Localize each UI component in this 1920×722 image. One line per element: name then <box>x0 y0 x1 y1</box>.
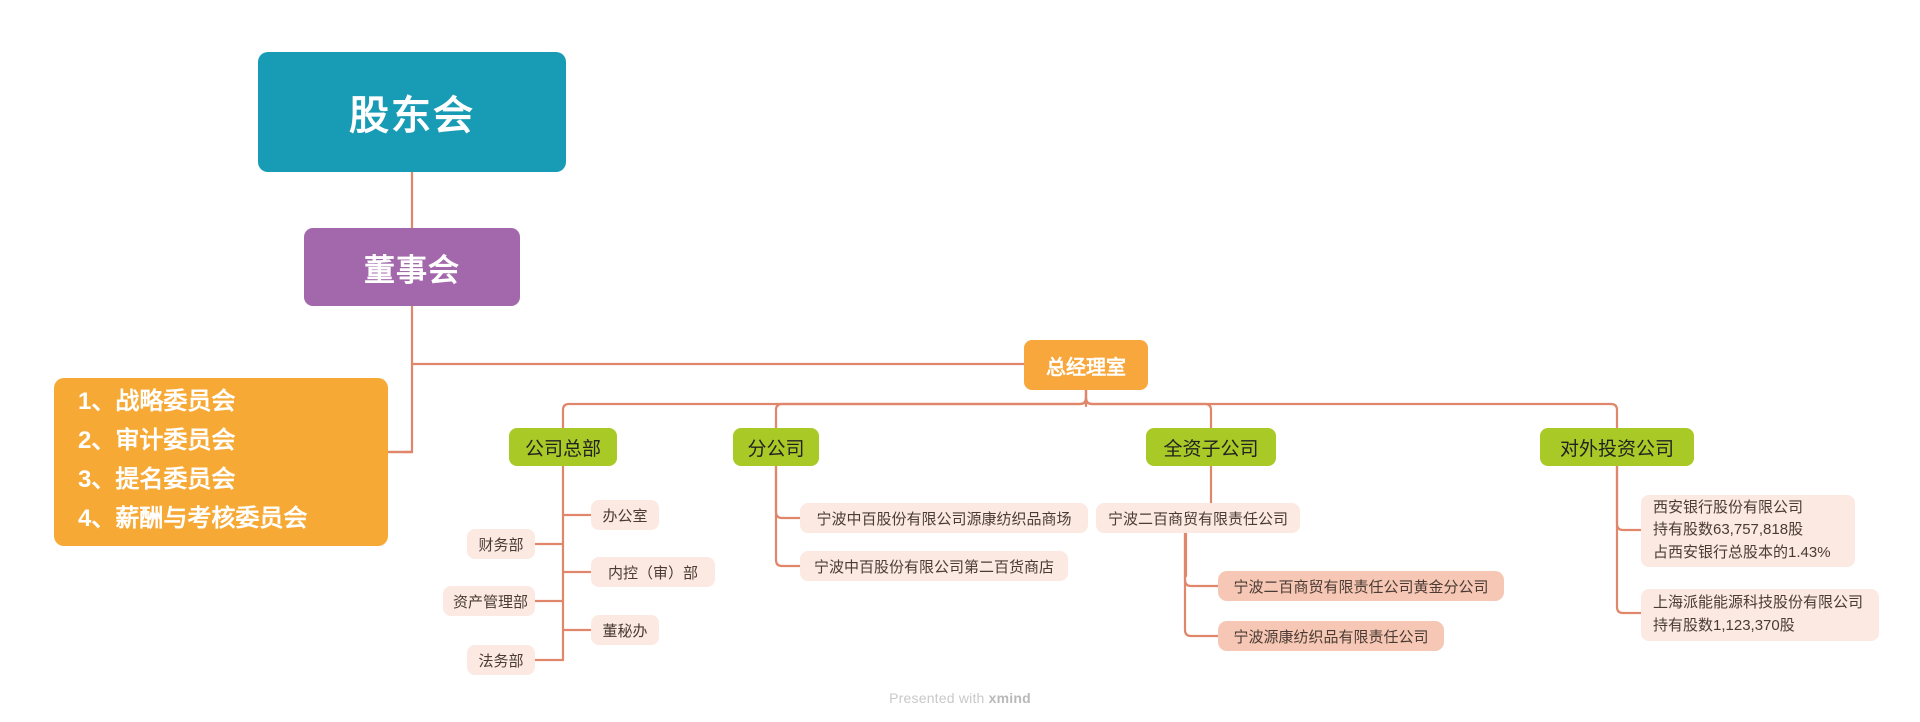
node-shareholders-meeting-label: 股东会 <box>258 83 566 141</box>
footer-attribution: Presented with xmind <box>0 690 1920 706</box>
footer-brand: xmind <box>989 690 1031 706</box>
node-board-of-directors-label: 董事会 <box>304 245 520 290</box>
committee-item: 3、提名委员会 <box>78 461 235 500</box>
investment-line: 持有股数63,757,818股 <box>1653 519 1803 542</box>
node-department-office-label: 办公室 <box>601 505 649 526</box>
investment-line: 上海派能能源科技股份有限公司 <box>1653 592 1863 615</box>
investment-line: 西安银行股份有限公司 <box>1653 497 1803 520</box>
org-chart-canvas: 股东会 董事会 1、战略委员会 2、审计委员会 3、提名委员会 4、薪酬与考核委… <box>0 0 1920 722</box>
node-branch-wholly-owned-subsidiaries[interactable]: 全资子公司 <box>1146 428 1276 466</box>
node-sub-subsidiary-yuankang-textile[interactable]: 宁波源康纺织品有限责任公司 <box>1218 621 1444 651</box>
node-branch-company-yuankang-textile-market[interactable]: 宁波中百股份有限公司源康纺织品商场 <box>800 503 1088 533</box>
node-department-board-secretary-office-label: 董秘办 <box>601 620 649 641</box>
investment-line: 占西安银行总股本的1.43% <box>1653 542 1831 565</box>
node-department-internal-control-audit-label: 内控（审）部 <box>601 562 705 583</box>
node-branch-external-investments[interactable]: 对外投资公司 <box>1540 428 1694 466</box>
node-branch-company-second-department-store[interactable]: 宁波中百股份有限公司第二百货商店 <box>800 551 1068 581</box>
node-department-asset-management-label: 资产管理部 <box>453 591 525 612</box>
node-branch-external-investments-label: 对外投资公司 <box>1540 434 1694 461</box>
node-sub-subsidiary-erbai-gold-branch[interactable]: 宁波二百商贸有限责任公司黄金分公司 <box>1218 571 1504 601</box>
node-investment-shanghai-pylon[interactable]: 上海派能能源科技股份有限公司 持有股数1,123,370股 <box>1641 589 1879 641</box>
node-branch-branches-label: 分公司 <box>733 434 819 461</box>
node-department-office[interactable]: 办公室 <box>591 500 659 530</box>
investment-line: 持有股数1,123,370股 <box>1653 615 1795 638</box>
node-department-finance-label: 财务部 <box>477 534 525 555</box>
node-investment-xian-bank[interactable]: 西安银行股份有限公司 持有股数63,757,818股 占西安银行总股本的1.43… <box>1641 495 1855 567</box>
node-branch-company-hq-label: 公司总部 <box>509 434 617 461</box>
node-board-of-directors[interactable]: 董事会 <box>304 228 520 306</box>
node-branch-branches[interactable]: 分公司 <box>733 428 819 466</box>
node-subsidiary-ningbo-erbai-trading-label: 宁波二百商贸有限责任公司 <box>1106 508 1290 529</box>
node-department-finance[interactable]: 财务部 <box>467 529 535 559</box>
committee-item: 1、战略委员会 <box>78 383 235 422</box>
node-department-legal-affairs[interactable]: 法务部 <box>467 645 535 675</box>
node-department-internal-control-audit[interactable]: 内控（审）部 <box>591 557 715 587</box>
node-department-legal-affairs-label: 法务部 <box>477 650 525 671</box>
node-sub-subsidiary-erbai-gold-branch-label: 宁波二百商贸有限责任公司黄金分公司 <box>1228 576 1494 597</box>
committee-item: 2、审计委员会 <box>78 422 235 461</box>
node-sub-subsidiary-yuankang-textile-label: 宁波源康纺织品有限责任公司 <box>1228 626 1434 647</box>
node-subsidiary-ningbo-erbai-trading[interactable]: 宁波二百商贸有限责任公司 <box>1096 503 1300 533</box>
node-branch-wholly-owned-subsidiaries-label: 全资子公司 <box>1146 434 1276 461</box>
node-branch-company-yuankang-textile-market-label: 宁波中百股份有限公司源康纺织品商场 <box>810 508 1078 529</box>
node-general-manager-office-label: 总经理室 <box>1024 351 1148 380</box>
node-branch-company-second-department-store-label: 宁波中百股份有限公司第二百货商店 <box>810 556 1058 577</box>
footer-prefix: Presented with <box>889 690 989 706</box>
node-branch-company-hq[interactable]: 公司总部 <box>509 428 617 466</box>
node-department-board-secretary-office[interactable]: 董秘办 <box>591 615 659 645</box>
node-general-manager-office[interactable]: 总经理室 <box>1024 340 1148 390</box>
committee-item: 4、薪酬与考核委员会 <box>78 500 307 539</box>
node-committees-panel[interactable]: 1、战略委员会 2、审计委员会 3、提名委员会 4、薪酬与考核委员会 <box>54 378 388 546</box>
node-shareholders-meeting[interactable]: 股东会 <box>258 52 566 172</box>
node-department-asset-management[interactable]: 资产管理部 <box>443 586 535 616</box>
